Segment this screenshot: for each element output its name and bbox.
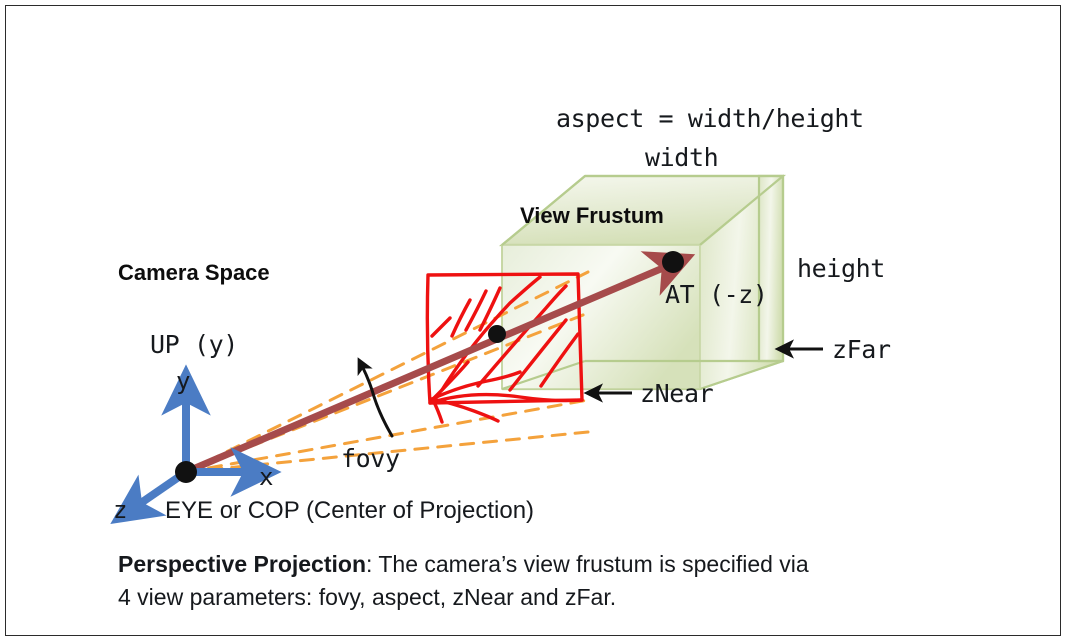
perspective-projection-figure (0, 0, 1067, 642)
axis-z-label: z (113, 496, 127, 524)
at-point-label: AT (-z) (665, 280, 768, 309)
znear-label: zNear (640, 379, 713, 408)
eye-origin-point (175, 461, 197, 483)
at-target-point (662, 251, 684, 273)
zfar-label: zFar (832, 335, 891, 364)
height-label: height (797, 254, 885, 283)
diagram-canvas: aspect = width/height width height zFar … (0, 0, 1067, 642)
caption-bold-lead: Perspective Projection (118, 551, 366, 577)
frustum-far-face (759, 176, 783, 361)
caption-line2: 4 view parameters: fovy, aspect, zNear a… (118, 584, 616, 610)
near-plane-center-point (488, 325, 506, 343)
figure-caption: Perspective Projection: The camera’s vie… (118, 548, 918, 613)
camera-space-title: Camera Space (118, 260, 270, 286)
aspect-formula-label: aspect = width/height (556, 104, 864, 133)
axis-y-label: y (176, 367, 190, 395)
hatch-12 (432, 318, 450, 336)
width-label: width (645, 143, 718, 172)
fovy-label: fovy (341, 444, 400, 473)
up-vector-label: UP (y) (150, 330, 238, 359)
caption-line1-rest: : The camera’s view frustum is specified… (366, 551, 809, 577)
axis-x-label: x (259, 463, 273, 491)
view-frustum-title: View Frustum (520, 203, 664, 229)
eye-cop-label: EYE or COP (Center of Projection) (165, 497, 534, 525)
